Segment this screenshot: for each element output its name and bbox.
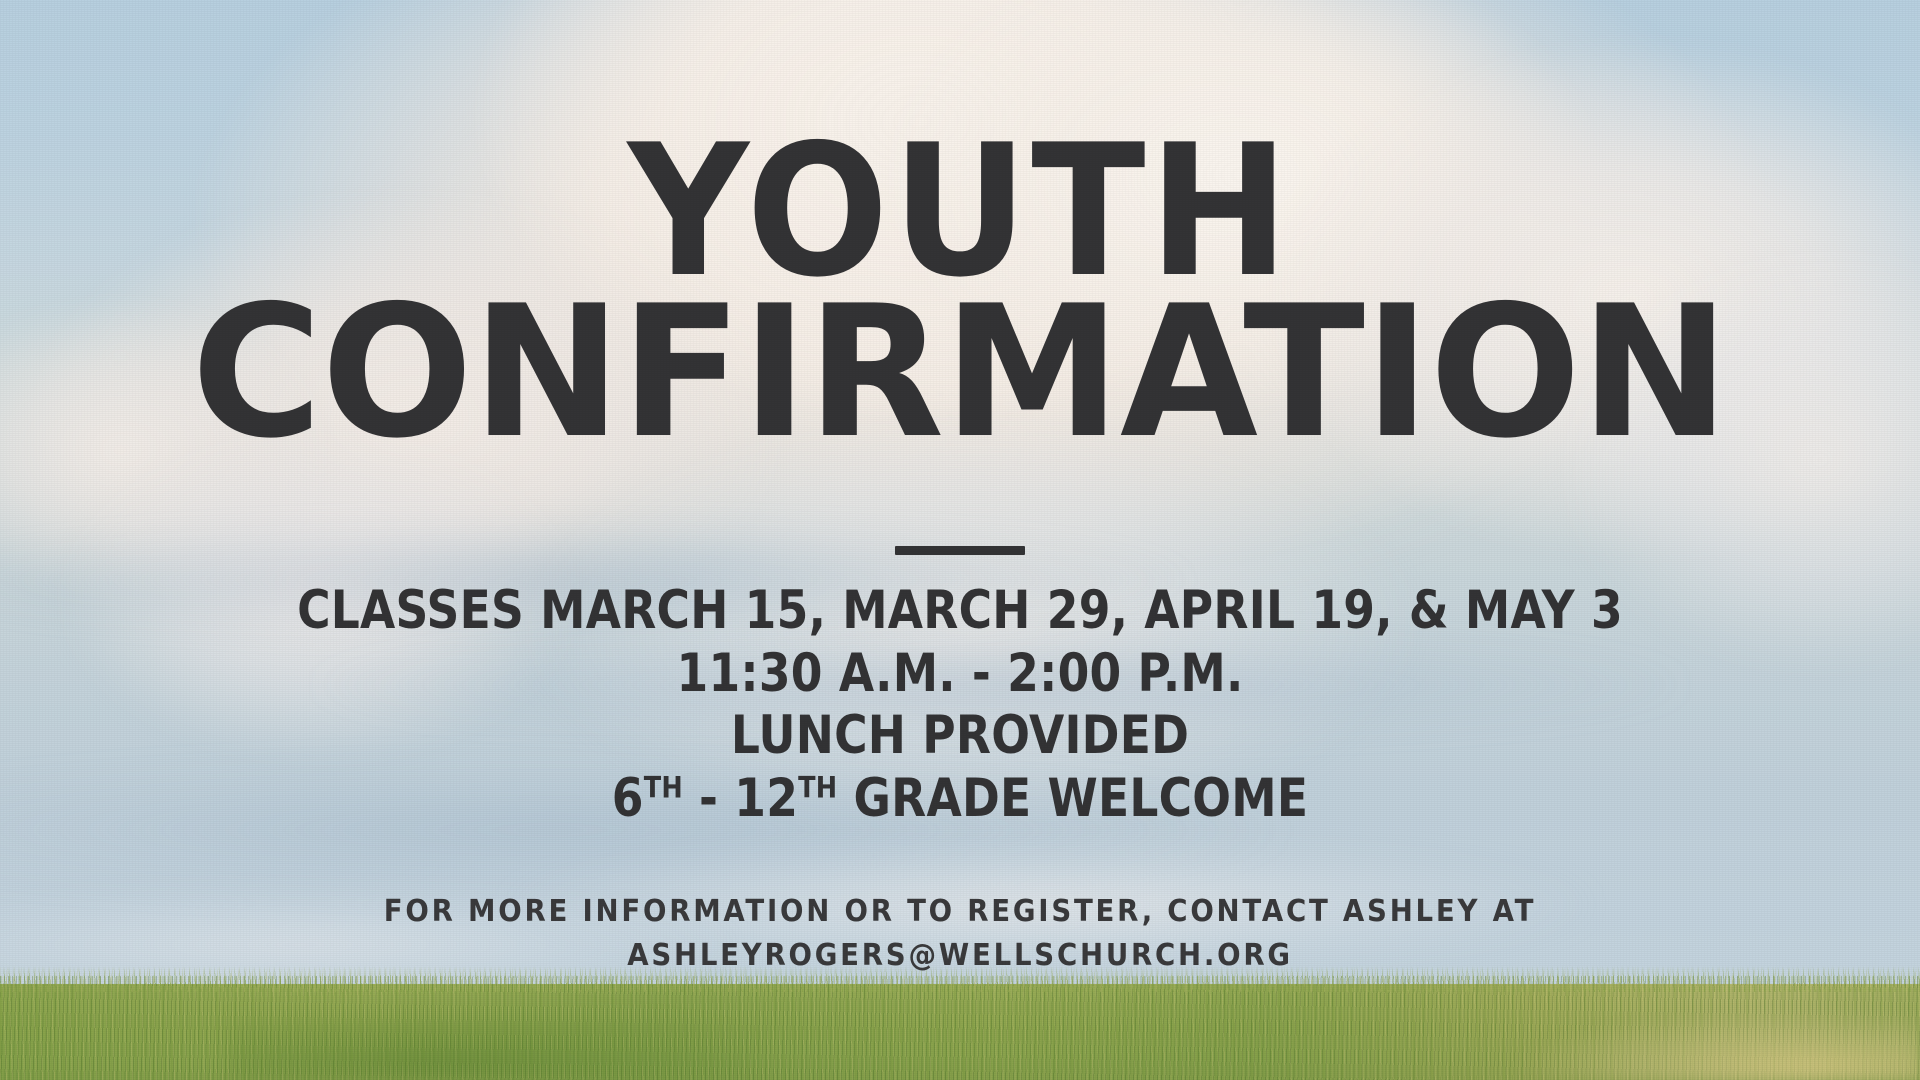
grade-range-first-suffix: TH — [644, 769, 683, 804]
divider-rule — [895, 546, 1025, 555]
grade-range-second-suffix: TH — [798, 769, 837, 804]
headline-line-confirmation: CONFIRMATION — [19, 289, 1901, 456]
headline-block: YOUTH CONFIRMATION — [0, 128, 1920, 457]
details-class-dates: CLASSES MARCH 15, MARCH 29, APRIL 19, & … — [134, 580, 1785, 643]
grade-range-separator: - — [683, 768, 734, 829]
details-grade-range: 6TH - 12TH GRADE WELCOME — [134, 768, 1785, 831]
contact-email-address: ASHLEYROGERS@WELLSCHURCH.ORG — [77, 934, 1843, 978]
details-lunch-provided: LUNCH PROVIDED — [134, 705, 1785, 768]
grade-range-second-number: 12 — [734, 768, 798, 829]
grade-range-first-number: 6 — [612, 768, 644, 829]
details-block: CLASSES MARCH 15, MARCH 29, APRIL 19, & … — [0, 580, 1920, 830]
poster-canvas: YOUTH CONFIRMATION CLASSES MARCH 15, MAR… — [0, 0, 1920, 1080]
grade-range-trailing-text: GRADE WELCOME — [837, 768, 1308, 829]
details-time-range: 11:30 A.M. - 2:00 P.M. — [134, 643, 1785, 706]
contact-block: FOR MORE INFORMATION OR TO REGISTER, CON… — [0, 890, 1920, 977]
contact-instruction-line: FOR MORE INFORMATION OR TO REGISTER, CON… — [77, 890, 1843, 934]
poster-content: YOUTH CONFIRMATION CLASSES MARCH 15, MAR… — [0, 0, 1920, 1080]
